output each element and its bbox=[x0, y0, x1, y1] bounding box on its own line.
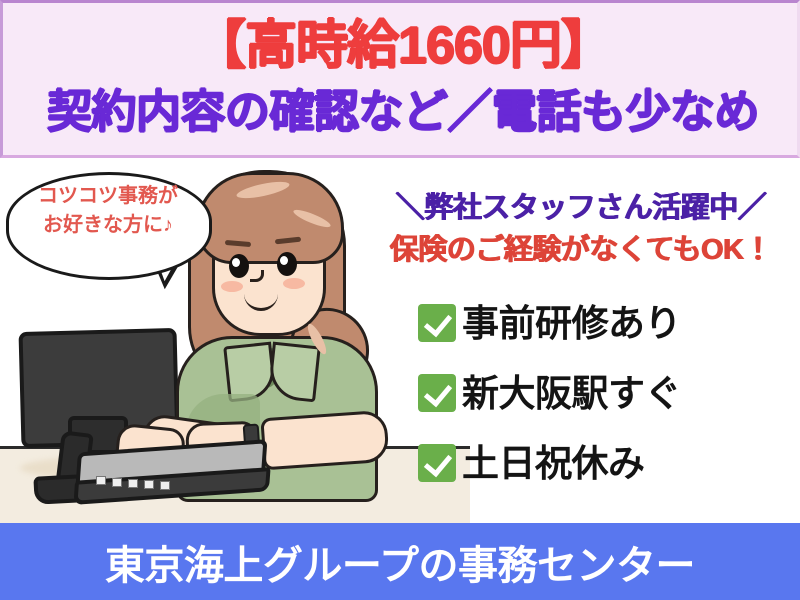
feature-label: 事前研修あり bbox=[462, 305, 681, 342]
speech-bubble-line-1: コツコツ事務が bbox=[10, 182, 206, 211]
tagline-staff-active: ＼弊社スタッフさん活躍中／ bbox=[362, 184, 800, 226]
keyboard-key bbox=[160, 481, 170, 490]
header-band: 【高時給1660円】 契約内容の確認など／電話も少なめ bbox=[0, 0, 800, 158]
feature-item: 新大阪駅すぐ bbox=[418, 358, 800, 428]
feature-item: 土日祝休み bbox=[418, 428, 800, 498]
keyboard-key bbox=[112, 478, 122, 487]
eye-left bbox=[229, 254, 249, 278]
headline-secondary: 契約内容の確認など／電話も少なめ bbox=[3, 87, 800, 137]
promo-text-column: ＼弊社スタッフさん活躍中／ 保険のご経験がなくてもOK！ 事前研修あり 新大阪駅… bbox=[362, 158, 800, 523]
keyboard-key bbox=[144, 480, 154, 489]
tagline-no-experience-ok: 保険のご経験がなくてもOK！ bbox=[362, 226, 800, 268]
feature-label: 新大阪駅すぐ bbox=[462, 375, 681, 412]
speech-bubble-text: コツコツ事務が お好きな方に♪ bbox=[10, 182, 206, 240]
footer-company-text: 東京海上グループの事務センター bbox=[105, 533, 695, 591]
feature-list: 事前研修あり 新大阪駅すぐ 土日祝休み bbox=[418, 288, 800, 498]
cheek-blush-right bbox=[283, 278, 305, 289]
eye-right bbox=[277, 252, 297, 276]
keyboard-key bbox=[128, 479, 138, 488]
feature-label: 土日祝休み bbox=[462, 445, 645, 482]
check-square-icon bbox=[418, 374, 456, 412]
headline-primary: 【高時給1660円】 bbox=[3, 17, 800, 75]
speech-bubble-line-2: お好きな方に♪ bbox=[10, 211, 206, 240]
check-square-icon bbox=[418, 304, 456, 342]
check-square-icon bbox=[418, 444, 456, 482]
footer-banner: 東京海上グループの事務センター bbox=[0, 523, 800, 600]
feature-item: 事前研修あり bbox=[418, 288, 800, 358]
cheek-blush-left bbox=[221, 281, 243, 292]
main-content-area: コツコツ事務が お好きな方に♪ ＼弊社スタッフさん活躍中／ 保険のご経験がなくて… bbox=[0, 158, 800, 523]
keyboard-key bbox=[96, 476, 106, 485]
job-ad-banner: 【高時給1660円】 契約内容の確認など／電話も少なめ bbox=[0, 0, 800, 600]
